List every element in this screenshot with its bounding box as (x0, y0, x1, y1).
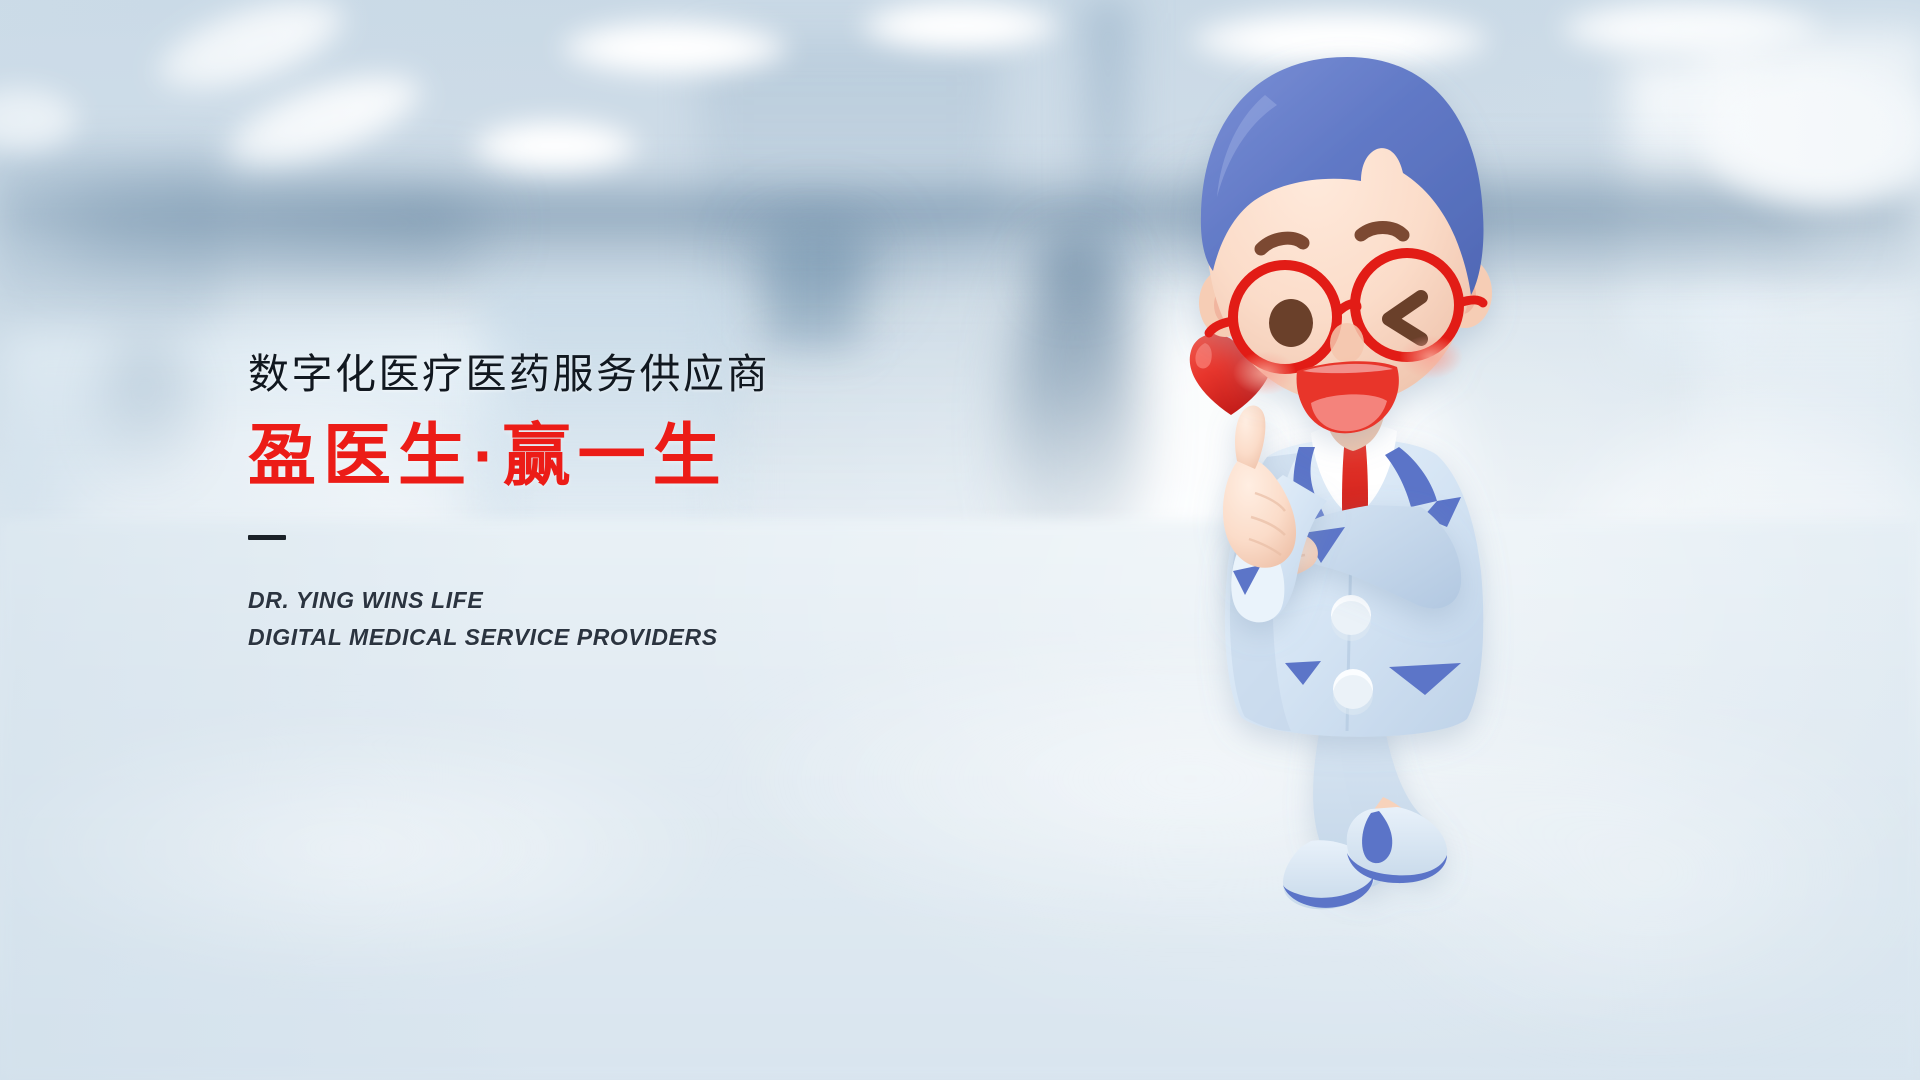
hero-copy-block: 数字化医疗医药服务供应商 盈医生·赢一生 DR. YING WINS LIFE … (248, 352, 1008, 655)
mascot-head (1199, 57, 1492, 433)
mascot-index-finger (1235, 405, 1265, 469)
mascot-coat-button-lower-shade (1333, 675, 1373, 715)
hero-headline: 盈医生·赢一生 (248, 418, 1008, 496)
mascot-blush-left (1233, 351, 1297, 395)
mascot-eye-open (1269, 299, 1313, 347)
hero-banner: 数字化医疗医药服务供应商 盈医生·赢一生 DR. YING WINS LIFE … (0, 0, 1920, 1080)
mascot-nose (1330, 323, 1364, 363)
hero-divider-rule (248, 535, 286, 540)
hero-english-line-2: DIGITAL MEDICAL SERVICE PROVIDERS (248, 619, 1008, 655)
hero-english-line-1: DR. YING WINS LIFE (248, 582, 1008, 618)
doctor-mascot-illustration (1175, 55, 1635, 1055)
mascot-shoes (1283, 807, 1447, 909)
mascot-coat-button-upper-shade (1331, 601, 1371, 641)
mascot-blush-right (1399, 335, 1463, 379)
glasses-temple-right (1459, 300, 1483, 303)
mascot-eyebrow-right (1361, 228, 1403, 236)
hero-kicker: 数字化医疗医药服务供应商 (248, 352, 1008, 398)
